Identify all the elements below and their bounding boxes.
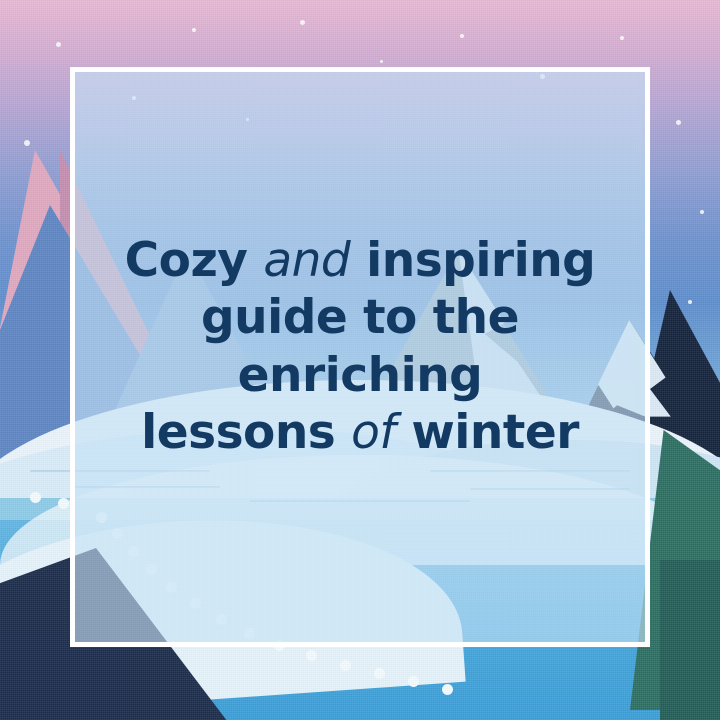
headline-line-1: Cozy and inspiring — [93, 232, 627, 289]
snow-foam-dot — [374, 668, 385, 679]
star-icon — [56, 42, 61, 47]
snow-foam-dot — [442, 684, 453, 695]
star-icon — [192, 28, 196, 32]
star-icon — [688, 300, 692, 304]
text-card: Cozy and inspiring guide to the enrichin… — [70, 67, 650, 647]
headline-word-cozy: Cozy — [125, 233, 248, 288]
headline-word-lessons: lessons — [141, 405, 335, 460]
headline-word-inspiring: inspiring — [366, 233, 595, 288]
star-icon — [380, 60, 383, 63]
headline-line-3: enriching — [93, 347, 627, 404]
evergreen-hill-right-lower — [660, 560, 720, 720]
star-icon — [300, 20, 305, 25]
snow-foam-dot — [340, 660, 351, 671]
star-icon — [24, 140, 30, 146]
star-icon — [460, 34, 464, 38]
star-icon — [700, 210, 704, 214]
headline-line-4: lessons of winter — [93, 404, 627, 461]
snow-foam-dot — [306, 650, 317, 661]
poster-canvas: Cozy and inspiring guide to the enrichin… — [0, 0, 720, 720]
headline-text: Cozy and inspiring guide to the enrichin… — [75, 232, 645, 461]
star-icon — [676, 120, 681, 125]
headline-line-2: guide to the — [93, 289, 627, 346]
headline-word-winter: winter — [411, 405, 579, 460]
snow-foam-dot — [30, 492, 41, 503]
star-icon — [620, 36, 624, 40]
headline-word-of: of — [351, 405, 395, 460]
snow-foam-dot — [408, 676, 419, 687]
headline-word-and: and — [263, 233, 350, 288]
snow-foam-dot — [58, 498, 69, 509]
